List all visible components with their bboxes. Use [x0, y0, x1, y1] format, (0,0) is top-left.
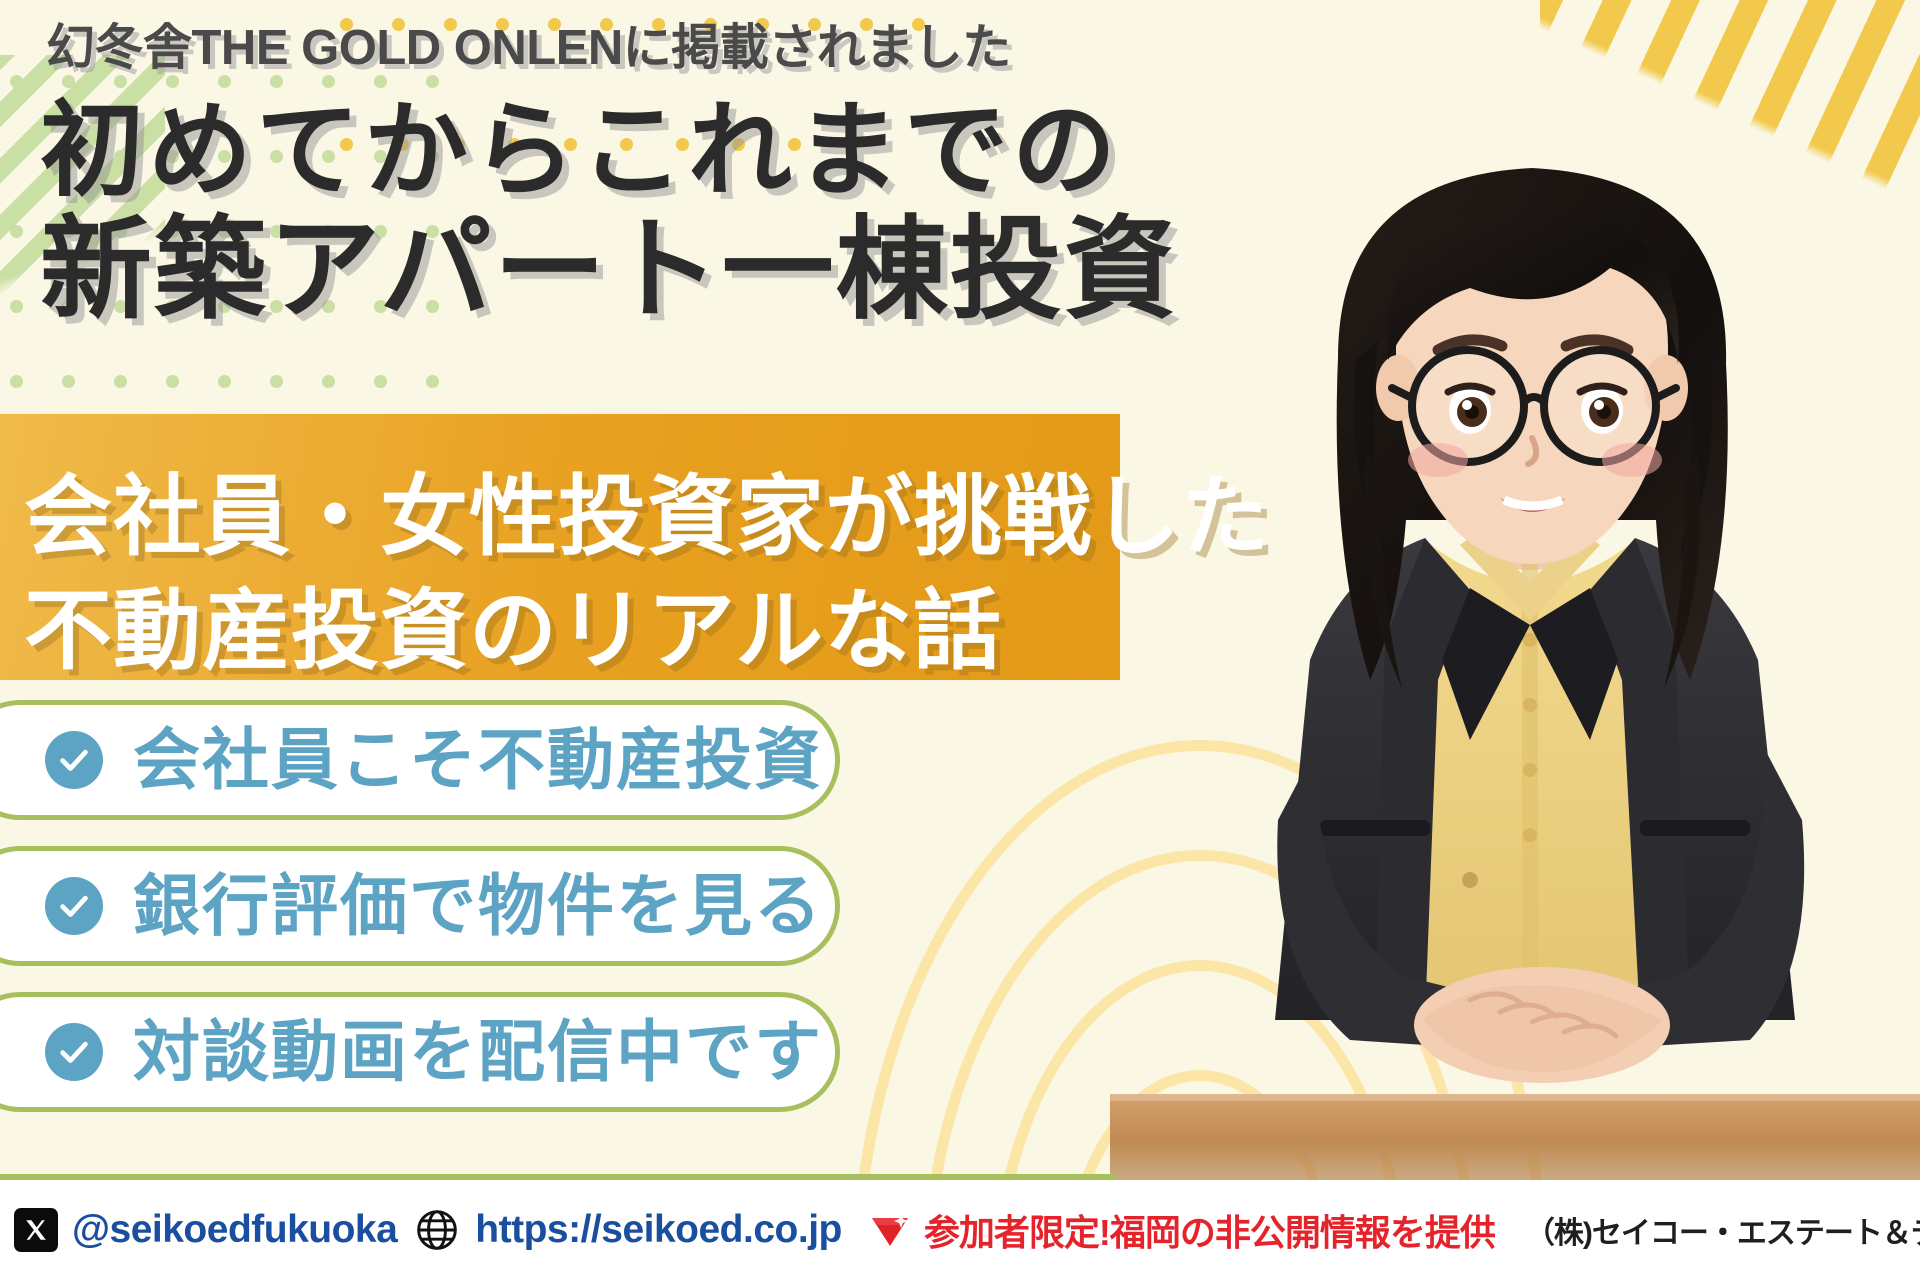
list-item[interactable]: 対談動画を配信中です [0, 992, 840, 1112]
x-logo-icon[interactable] [14, 1208, 58, 1252]
businesswoman-illustration [1170, 120, 1920, 1180]
wooden-desk [1110, 1094, 1920, 1180]
footer-bar: @seikoedfukuoka https://seikoed.co.jp 参加… [0, 1180, 1920, 1280]
page-title: 初めてからこれまでの 新築アパート一棟投資 [40, 92, 1178, 334]
subtitle-band: 会社員・女性投資家が挑戦した 不動産投資のリアルな話 [0, 414, 1120, 680]
list-item-label: 対談動画を配信中です [133, 1019, 823, 1086]
title-line-2: 新築アパート一棟投資 [40, 208, 1178, 333]
band-line-2: 不動産投資のリアルな話 [24, 560, 1002, 687]
promo-text: 参加者限定!福岡の非公開情報を提供 [924, 1204, 1495, 1256]
x-handle[interactable]: @seikoedfukuoka [72, 1208, 397, 1252]
checklist: 会社員こそ不動産投資 銀行評価で物件を見る 対談動画を配信中です [0, 700, 840, 1138]
check-circle-icon [45, 877, 103, 935]
title-line-1: 初めてからこれまでの [40, 92, 1178, 208]
page-kicker: 幻冬舎THE GOLD ONLENに掲載されました [46, 8, 1011, 79]
banner-canvas: 幻冬舎THE GOLD ONLENに掲載されました 初めてからこれまでの 新築ア… [0, 0, 1920, 1280]
company-name: （株)セイコー・エステート＆ディベロップメント [1525, 1208, 1920, 1252]
check-circle-icon [45, 731, 103, 789]
globe-icon [415, 1208, 459, 1252]
gem-icon [868, 1212, 912, 1248]
check-circle-icon [45, 1023, 103, 1081]
band-line-1: 会社員・女性投資家が挑戦した [24, 446, 1270, 573]
list-item-label: 会社員こそ不動産投資 [133, 727, 823, 794]
website-url[interactable]: https://seikoed.co.jp [475, 1208, 842, 1252]
list-item[interactable]: 銀行評価で物件を見る [0, 846, 840, 966]
list-item[interactable]: 会社員こそ不動産投資 [0, 700, 840, 820]
list-item-label: 銀行評価で物件を見る [133, 873, 823, 940]
